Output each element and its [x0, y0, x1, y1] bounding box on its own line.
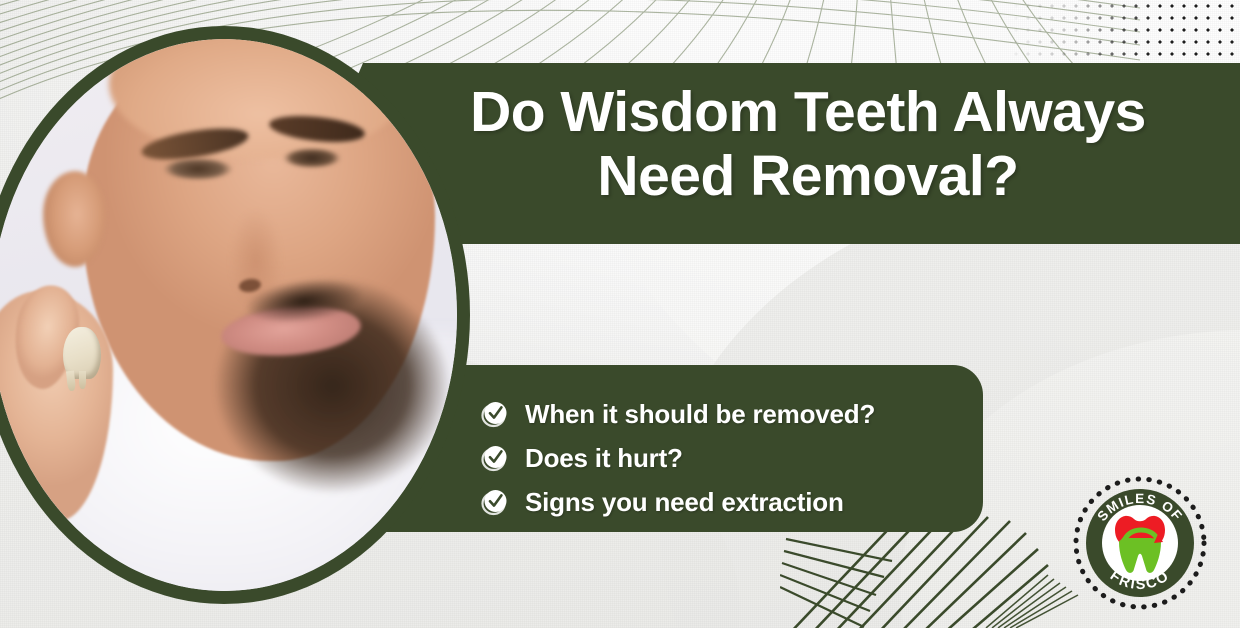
check-circle-icon	[480, 399, 510, 429]
photo-image	[0, 39, 457, 591]
list-item: When it should be removed?	[480, 392, 1000, 436]
photo-face	[83, 39, 435, 461]
photo-eye	[163, 159, 233, 179]
list-item: Does it hurt?	[480, 436, 1000, 480]
photo-extracted-tooth	[63, 327, 101, 379]
photo-hand	[0, 291, 113, 521]
list-item: Signs you need extraction	[480, 480, 1000, 524]
photo-beard	[141, 235, 457, 525]
check-circle-icon	[480, 487, 510, 517]
photo-ear	[43, 171, 105, 267]
photo-circle-border	[0, 26, 470, 604]
hero-photo	[0, 26, 470, 604]
list-item-label: Does it hurt?	[525, 443, 683, 474]
dot-grid-decoration	[1010, 0, 1240, 66]
photo-shirt	[0, 331, 457, 591]
list-item-label: When it should be removed?	[525, 399, 875, 430]
list-item-label: Signs you need extraction	[525, 487, 844, 518]
promo-banner: Do Wisdom Teeth Always Need Removal? Whe…	[0, 0, 1240, 628]
photo-eye	[283, 149, 341, 167]
logo-badge[interactable]: SMILES OF FRISCO	[1069, 472, 1211, 614]
photo-lips	[219, 301, 363, 361]
bullet-list: When it should be removed? Does it hurt?	[480, 392, 1000, 524]
check-circle-icon	[480, 443, 510, 473]
page-title: Do Wisdom Teeth Always Need Removal?	[398, 80, 1218, 209]
